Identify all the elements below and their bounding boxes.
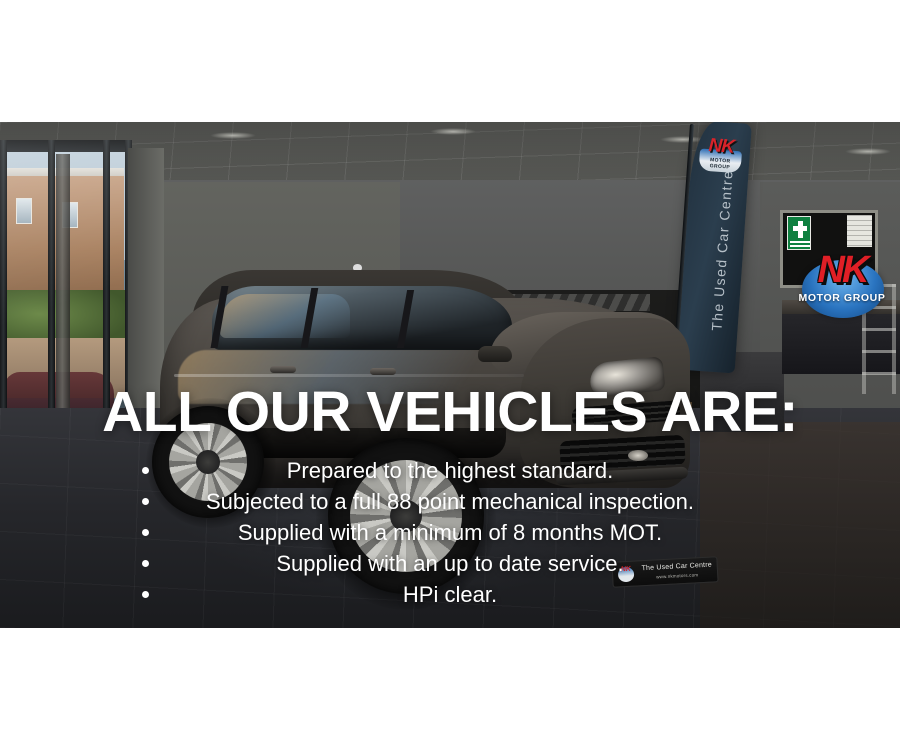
feature-list: Prepared to the highest standard. Subjec… <box>0 455 900 610</box>
page-title: ALL OUR VEHICLES ARE: <box>0 384 900 441</box>
advert-stage: NK MOTOR GROUP The Used Car Centre <box>0 0 900 750</box>
door-handle <box>370 368 396 375</box>
list-item: Subjected to a full 88 point mechanical … <box>0 486 900 517</box>
ceiling-light <box>210 132 256 139</box>
cross-icon <box>793 226 807 231</box>
list-item: HPi clear. <box>0 579 900 610</box>
showroom-photo: NK MOTOR GROUP The Used Car Centre <box>0 122 900 628</box>
list-item: Prepared to the highest standard. <box>0 455 900 486</box>
banner-logo-mark: NK <box>703 135 740 159</box>
door-handle <box>270 366 296 373</box>
wing-mirror <box>478 346 512 362</box>
shoulder-line <box>174 374 524 377</box>
logo-mark: NK <box>793 248 891 292</box>
ceiling-light <box>430 128 476 135</box>
glazing-reflection <box>220 294 350 338</box>
list-item: Supplied with a minimum of 8 months MOT. <box>0 517 900 548</box>
first-aid-sign-icon <box>787 216 811 250</box>
notice-paper <box>847 215 872 247</box>
logo-subtitle: MOTOR GROUP <box>793 292 891 304</box>
list-item: Supplied with an up to date service. <box>0 548 900 579</box>
nk-motor-group-logo: NK MOTOR GROUP <box>793 248 891 318</box>
ceiling-light <box>845 148 891 155</box>
